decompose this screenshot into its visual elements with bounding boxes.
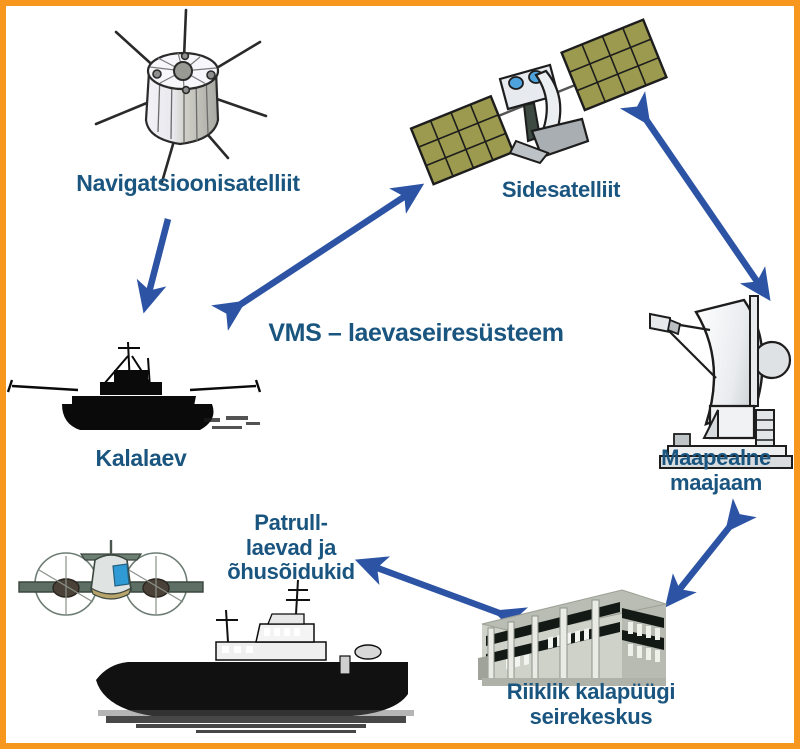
satellite-dish-icon	[650, 296, 792, 468]
label-patrol-units: Patrull- laevad ja õhusõidukid	[211, 511, 371, 585]
label-monitoring-centre: Riiklik kalapüügi seirekeskus	[476, 680, 706, 729]
label-fishing-vessel: Kalalaev	[36, 446, 246, 472]
fishing-vessel-icon	[8, 342, 260, 430]
arrow-ground-to-centre	[671, 525, 731, 600]
diagram-title: VMS – laevaseiresüsteem	[236, 319, 596, 348]
navigation-satellite-icon	[96, 10, 266, 182]
communication-satellite-icon	[406, 20, 671, 185]
arrow-nav-to-vessel	[146, 219, 168, 304]
label-communication-satellite: Sidesatelliit	[461, 178, 661, 203]
label-ground-station: Maapealne maajaam	[631, 446, 800, 495]
diagram-page: Navigatsioonisatelliit Sidesatelliit Kal…	[0, 0, 800, 749]
arrow-comsat-to-ground	[645, 118, 765, 293]
patrol-aircraft-icon	[19, 540, 203, 615]
arrow-centre-to-patrol	[364, 563, 502, 614]
label-navigation-satellite: Navigatsioonisatelliit	[48, 171, 328, 197]
arrow-vessel-to-comsat	[238, 189, 416, 306]
office-building-icon	[478, 590, 666, 686]
patrol-ship-icon	[96, 580, 414, 733]
diagram-canvas	[6, 6, 800, 749]
